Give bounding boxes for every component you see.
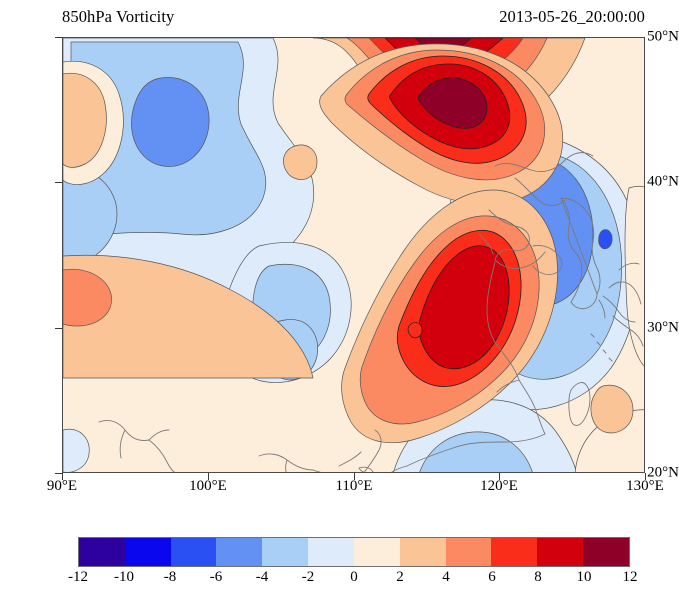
ytick-mark-50n — [55, 37, 62, 38]
colorbar-cell-9 — [491, 538, 537, 566]
colorbar-cell-4 — [262, 538, 308, 566]
xtick-label-90e: 90°E — [47, 478, 77, 495]
colorbar-tick-label-12: 12 — [623, 569, 638, 586]
colorbar-tick-label-5: -2 — [302, 569, 315, 586]
colorbar-tick-label-6: 0 — [350, 569, 358, 586]
colorbar-cell-11 — [583, 538, 629, 566]
ytick-mark-20n — [55, 473, 62, 474]
chart-timestamp: 2013-05-26_20:00:00 — [499, 7, 645, 27]
colorbar-gradient — [78, 537, 630, 567]
contour-band-2-4-isolated-blob — [284, 145, 318, 180]
colorbar-cell-6 — [354, 538, 400, 566]
colorbar-cell-8 — [446, 538, 492, 566]
colorbar-tick-label-0: -12 — [68, 569, 88, 586]
colorbar-cell-0 — [79, 538, 125, 566]
title-row: 850hPa Vorticity 2013-05-26_20:00:00 — [62, 4, 645, 30]
colorbar-cell-2 — [171, 538, 217, 566]
colorbar-tick-label-4: -4 — [256, 569, 269, 586]
ytick-label-30n: 30°N — [629, 320, 679, 337]
xtick-label-130e: 130°E — [626, 478, 664, 495]
xtick-label-100e: 100°E — [189, 478, 227, 495]
colorbar-cell-3 — [216, 538, 262, 566]
colorbar-cell-7 — [400, 538, 446, 566]
chart-title: 850hPa Vorticity — [62, 7, 174, 27]
colorbar-cell-1 — [125, 538, 171, 566]
colorbar-cell-5 — [308, 538, 354, 566]
contour-band-8-10-tiny-speck — [408, 322, 422, 337]
xtick-label-110e: 110°E — [335, 478, 372, 495]
contour-band-m6-m4-northwest — [131, 78, 209, 167]
colorbar-tick-label-3: -6 — [210, 569, 223, 586]
vorticity-figure: 850hPa Vorticity 2013-05-26_20:00:00 — [0, 0, 679, 600]
colorbar-tick-label-11: 10 — [577, 569, 592, 586]
ytick-mark-30n — [55, 328, 62, 329]
colorbar — [78, 537, 630, 567]
xtick-label-120e: 120°E — [480, 478, 518, 495]
ytick-label-50n: 50°N — [629, 29, 679, 46]
ytick-label-40n: 40°N — [629, 174, 679, 191]
colorbar-tick-label-1: -10 — [114, 569, 134, 586]
colorbar-tick-label-7: 2 — [396, 569, 404, 586]
colorbar-tick-label-8: 4 — [442, 569, 450, 586]
colorbar-tick-label-9: 6 — [488, 569, 496, 586]
map-plot-area — [62, 37, 645, 473]
colorbar-tick-label-10: 8 — [534, 569, 542, 586]
vorticity-contour-plot — [63, 38, 645, 473]
colorbar-cell-10 — [537, 538, 583, 566]
contour-band-m8-m6-japan — [599, 230, 613, 249]
colorbar-tick-label-2: -8 — [164, 569, 177, 586]
ytick-mark-40n — [55, 182, 62, 183]
